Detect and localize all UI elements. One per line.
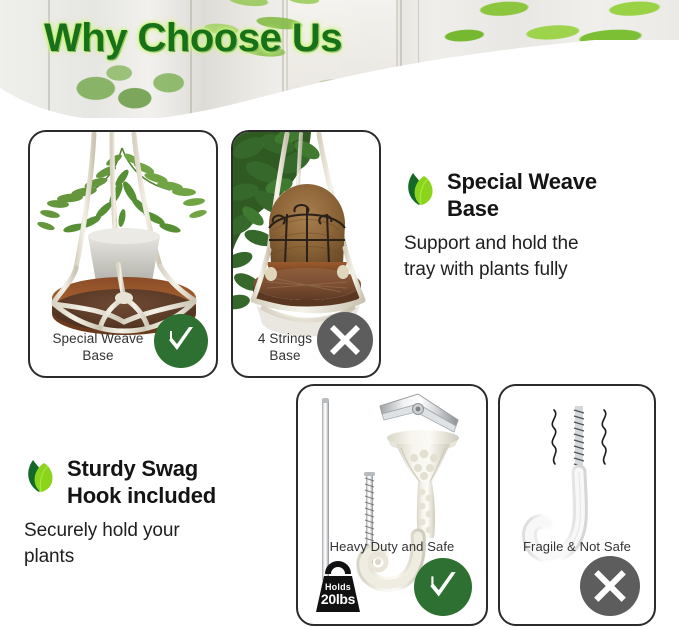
feature-heading-row: Sturdy Swag Hook included xyxy=(24,455,286,509)
header-banner: Why Choose Us xyxy=(0,0,679,118)
feature-description: Securely hold your plants xyxy=(24,518,286,570)
feature-title: Sturdy Swag Hook included xyxy=(67,455,216,509)
card-heavy-duty-safe[interactable]: Heavy Duty and Safe Holds 20lbs xyxy=(296,384,488,626)
status-badge-cross xyxy=(580,556,640,616)
card-caption: Special Weave Base xyxy=(36,330,160,364)
page-title: Why Choose Us xyxy=(44,16,342,61)
infographic-page: Why Choose Us xyxy=(0,0,679,630)
feature-heading-row: Special Weave Base xyxy=(404,168,666,222)
check-mark-icon xyxy=(425,569,461,605)
feature-title: Special Weave Base xyxy=(447,168,597,222)
weight-badge-text: Holds 20lbs xyxy=(308,582,368,607)
card-4-strings-base[interactable]: 4 Strings Base xyxy=(231,130,381,378)
leaf-icon xyxy=(404,170,438,211)
cross-mark-icon xyxy=(591,567,629,605)
feature-sturdy-swag-hook: Sturdy Swag Hook included Securely hold … xyxy=(24,455,286,570)
check-mark-icon xyxy=(164,324,198,358)
status-badge-check xyxy=(414,558,472,616)
card-caption: Fragile & Not Safe xyxy=(500,538,654,555)
status-badge-cross xyxy=(317,312,373,368)
status-badge-check xyxy=(154,314,208,368)
card-caption: Heavy Duty and Safe xyxy=(298,538,486,555)
cross-mark-icon xyxy=(327,322,363,358)
card-special-weave-base[interactable]: Special Weave Base xyxy=(28,130,218,378)
feature-description: Support and hold the tray with plants fu… xyxy=(404,231,666,283)
leaf-icon xyxy=(24,457,58,498)
feature-special-weave-base: Special Weave Base Support and hold the … xyxy=(404,168,666,283)
weight-capacity-badge: Holds 20lbs xyxy=(308,560,368,616)
card-fragile-not-safe[interactable]: Fragile & Not Safe xyxy=(498,384,656,626)
